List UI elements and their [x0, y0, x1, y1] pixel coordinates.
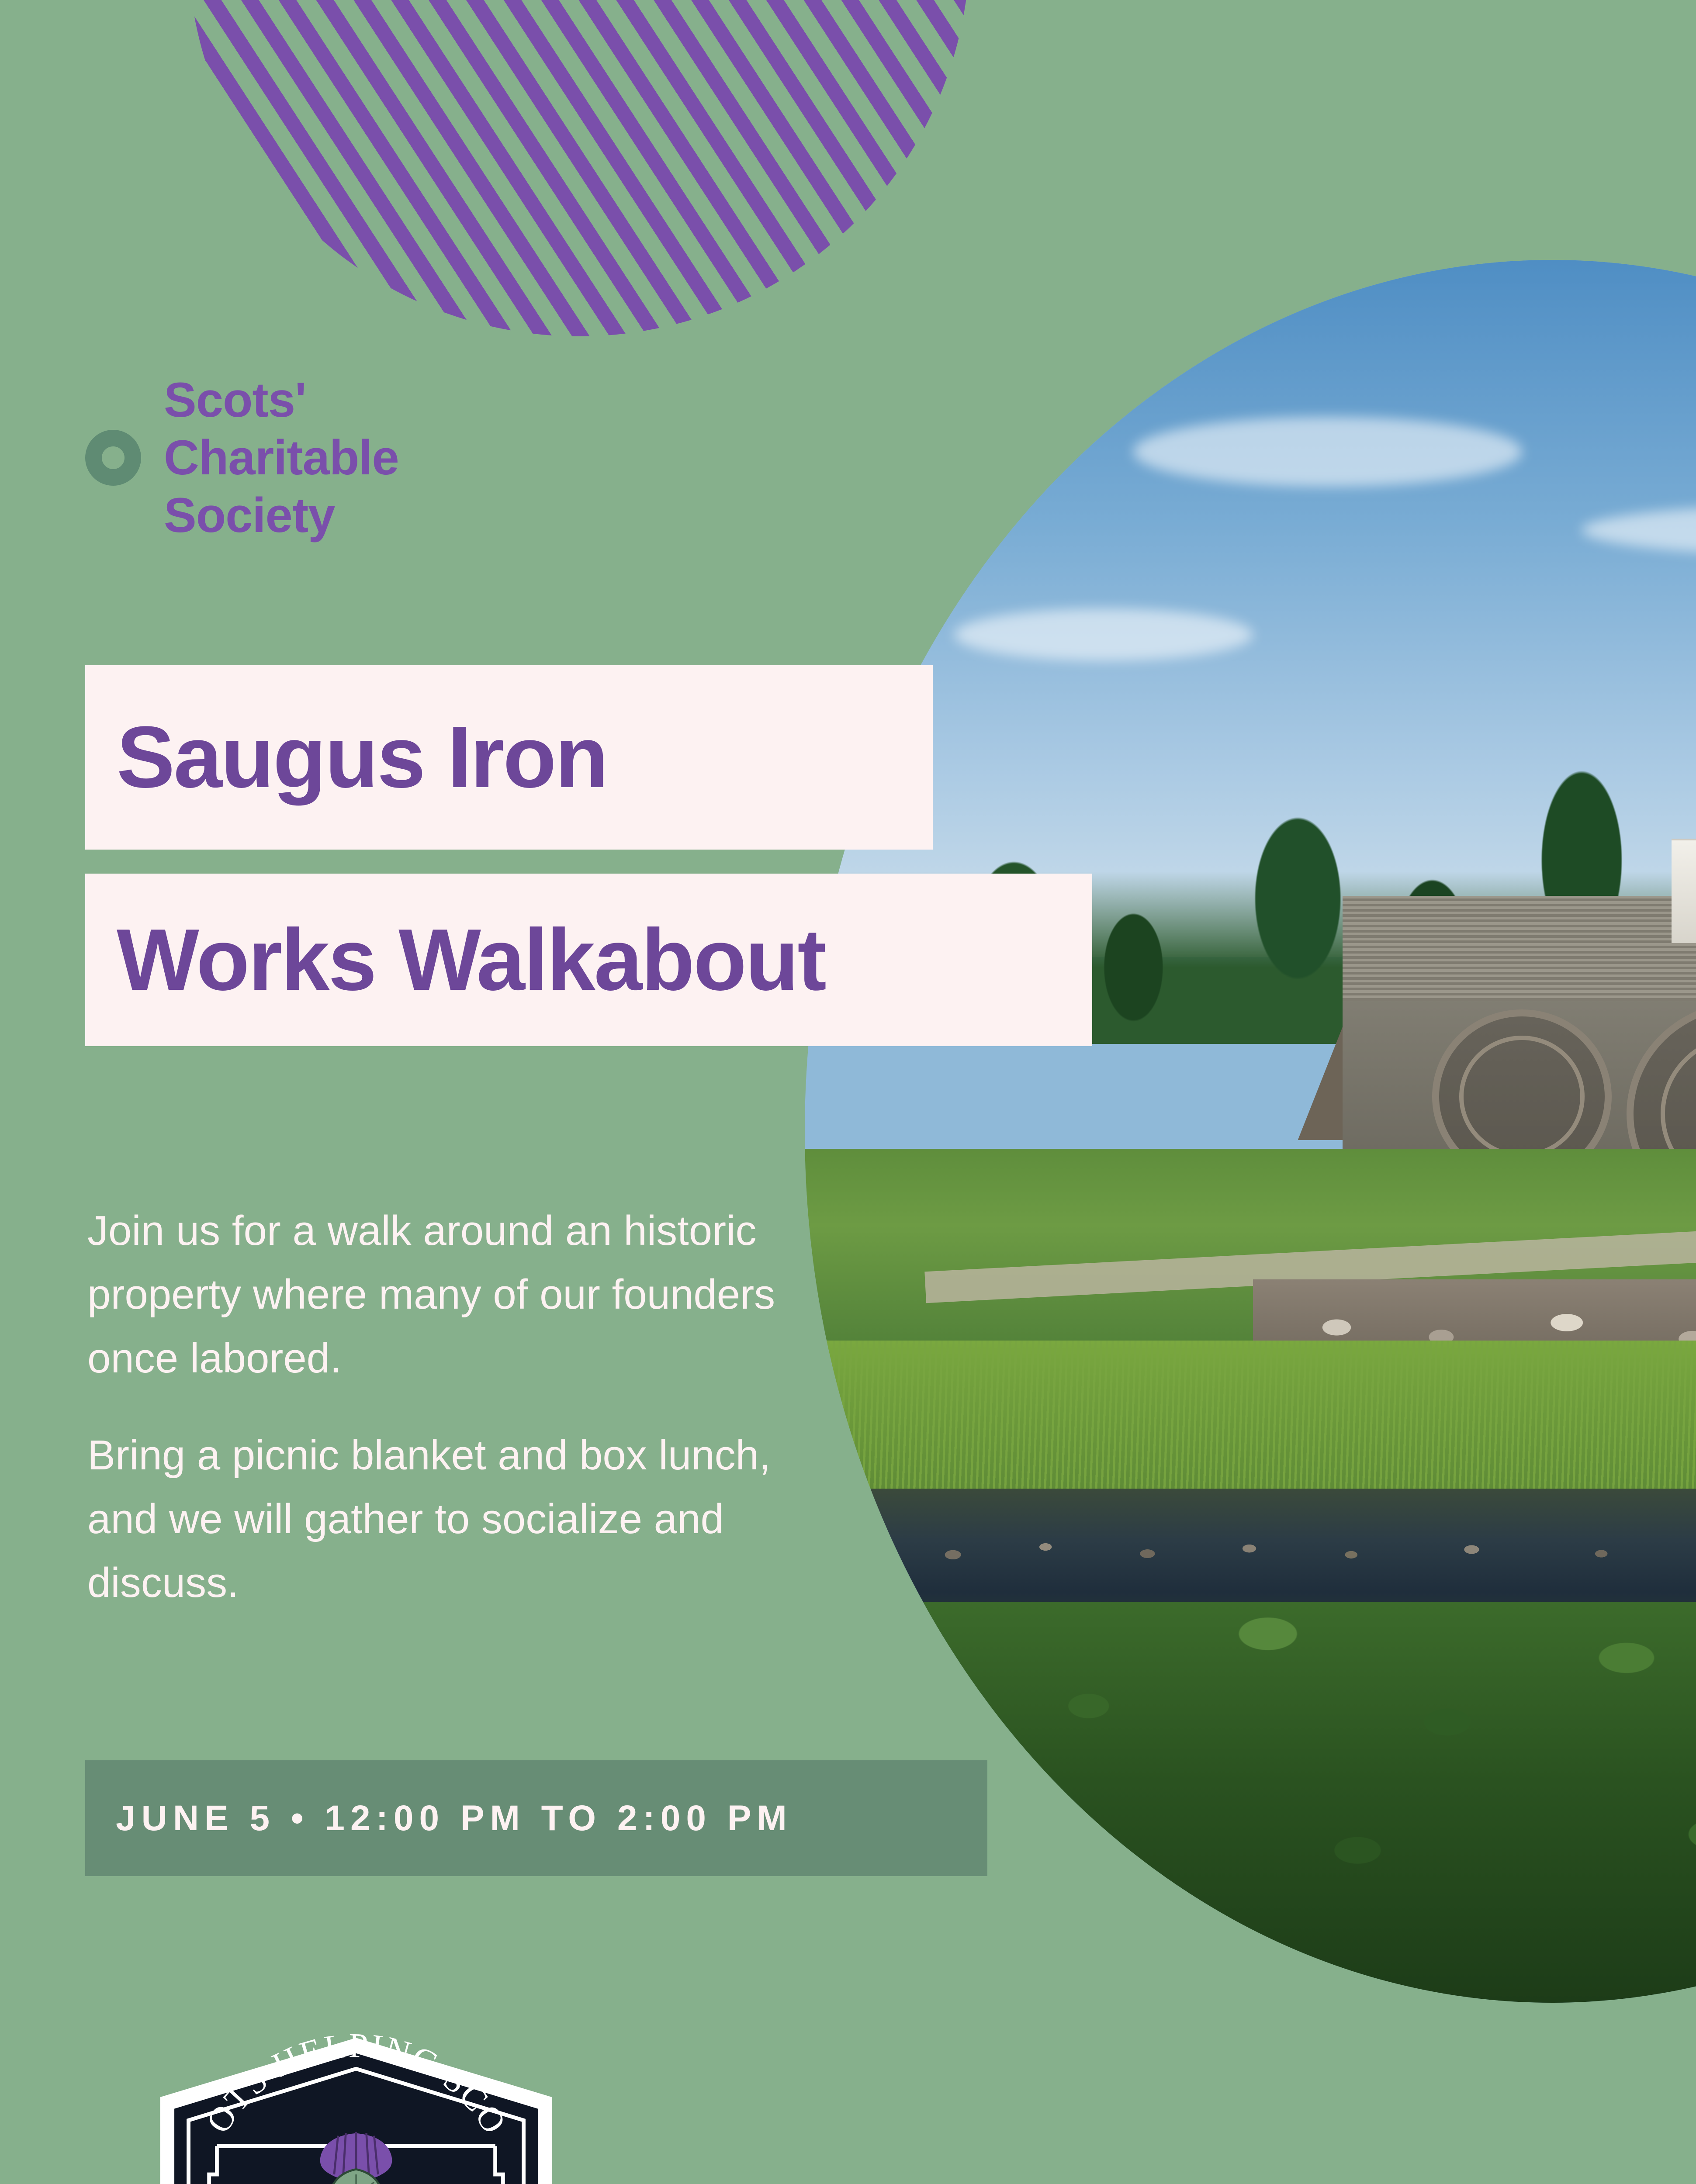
event-date-time-text: JUNE 5 • 12:00 PM TO 2:00 PM: [85, 1798, 793, 1839]
photo-river-rocks: [805, 1524, 1696, 1576]
brand-name-line-1: Scots': [164, 371, 399, 429]
brand-name-line-3: Society: [164, 487, 399, 544]
event-date-banner: JUNE 5 • 12:00 PM TO 2:00 PM: [85, 1760, 987, 1876]
brand-lockup: Scots' Charitable Society: [85, 371, 399, 544]
photo-chimney: [1672, 839, 1696, 943]
body-copy: Join us for a walk around an historic pr…: [87, 1199, 795, 1614]
photo-cloud: [1133, 417, 1522, 487]
title-band-secondary: Works Walkabout: [85, 874, 1092, 1046]
page-title-line-2: Works Walkabout: [85, 916, 825, 1004]
photo-cloud: [954, 608, 1253, 661]
title-band-primary: Saugus Iron: [85, 665, 933, 850]
society-crest-logo: SCOTS HELPING SCOTS: [98, 2022, 614, 2184]
ring-circle-icon: [85, 430, 141, 486]
brand-name-line-2: Charitable: [164, 429, 399, 487]
body-paragraph-2: Bring a picnic blanket and box lunch, an…: [87, 1424, 795, 1615]
page-title-line-1: Saugus Iron: [85, 714, 607, 801]
body-paragraph-1: Join us for a walk around an historic pr…: [87, 1199, 795, 1390]
saugus-iron-works-photo: [805, 260, 1696, 2003]
brand-name: Scots' Charitable Society: [164, 371, 399, 544]
photo-mill-roof: [1343, 896, 1696, 1000]
photo-circle: [805, 260, 1696, 2003]
photo-reeds: [805, 1341, 1696, 1497]
event-poster: Scots' Charitable Society Saugus Iron Wo…: [0, 0, 1696, 2184]
